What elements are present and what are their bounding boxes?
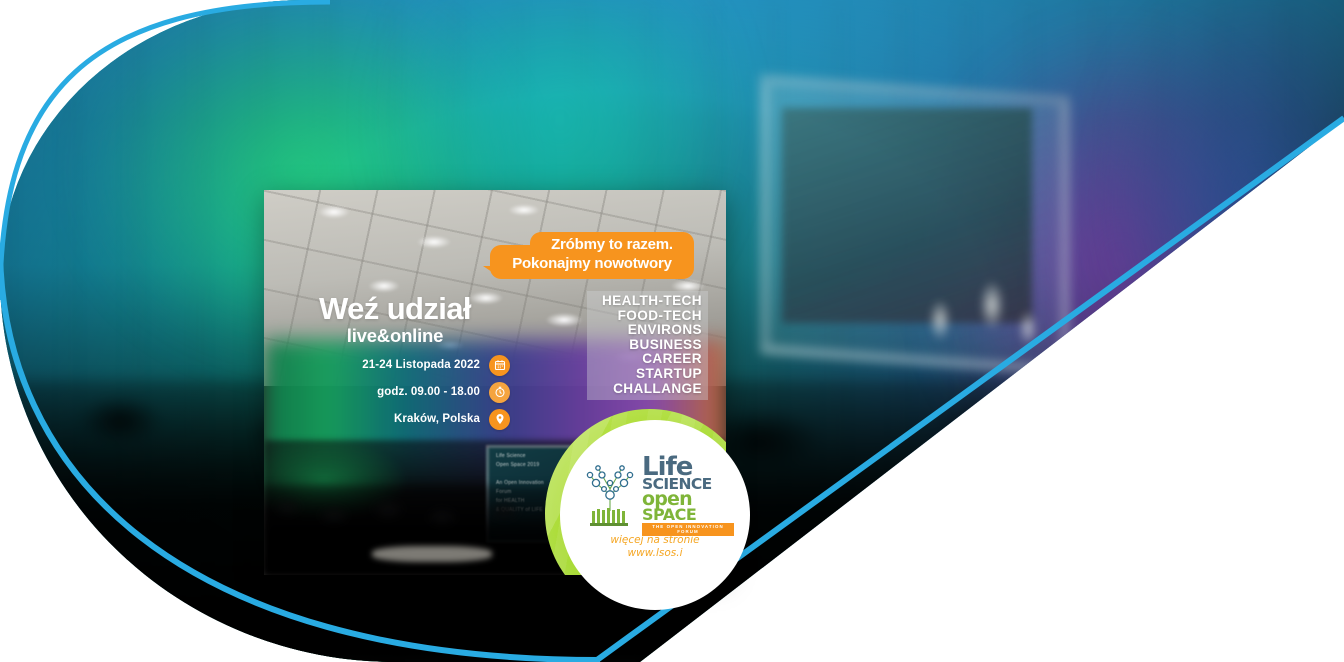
event-card[interactable]: Life ScienceOpen Space 2019An Open Innov… xyxy=(264,190,726,575)
card-table xyxy=(372,546,492,562)
banner-stage: Life ScienceOpen Space 2019An Open Innov… xyxy=(0,0,1344,662)
